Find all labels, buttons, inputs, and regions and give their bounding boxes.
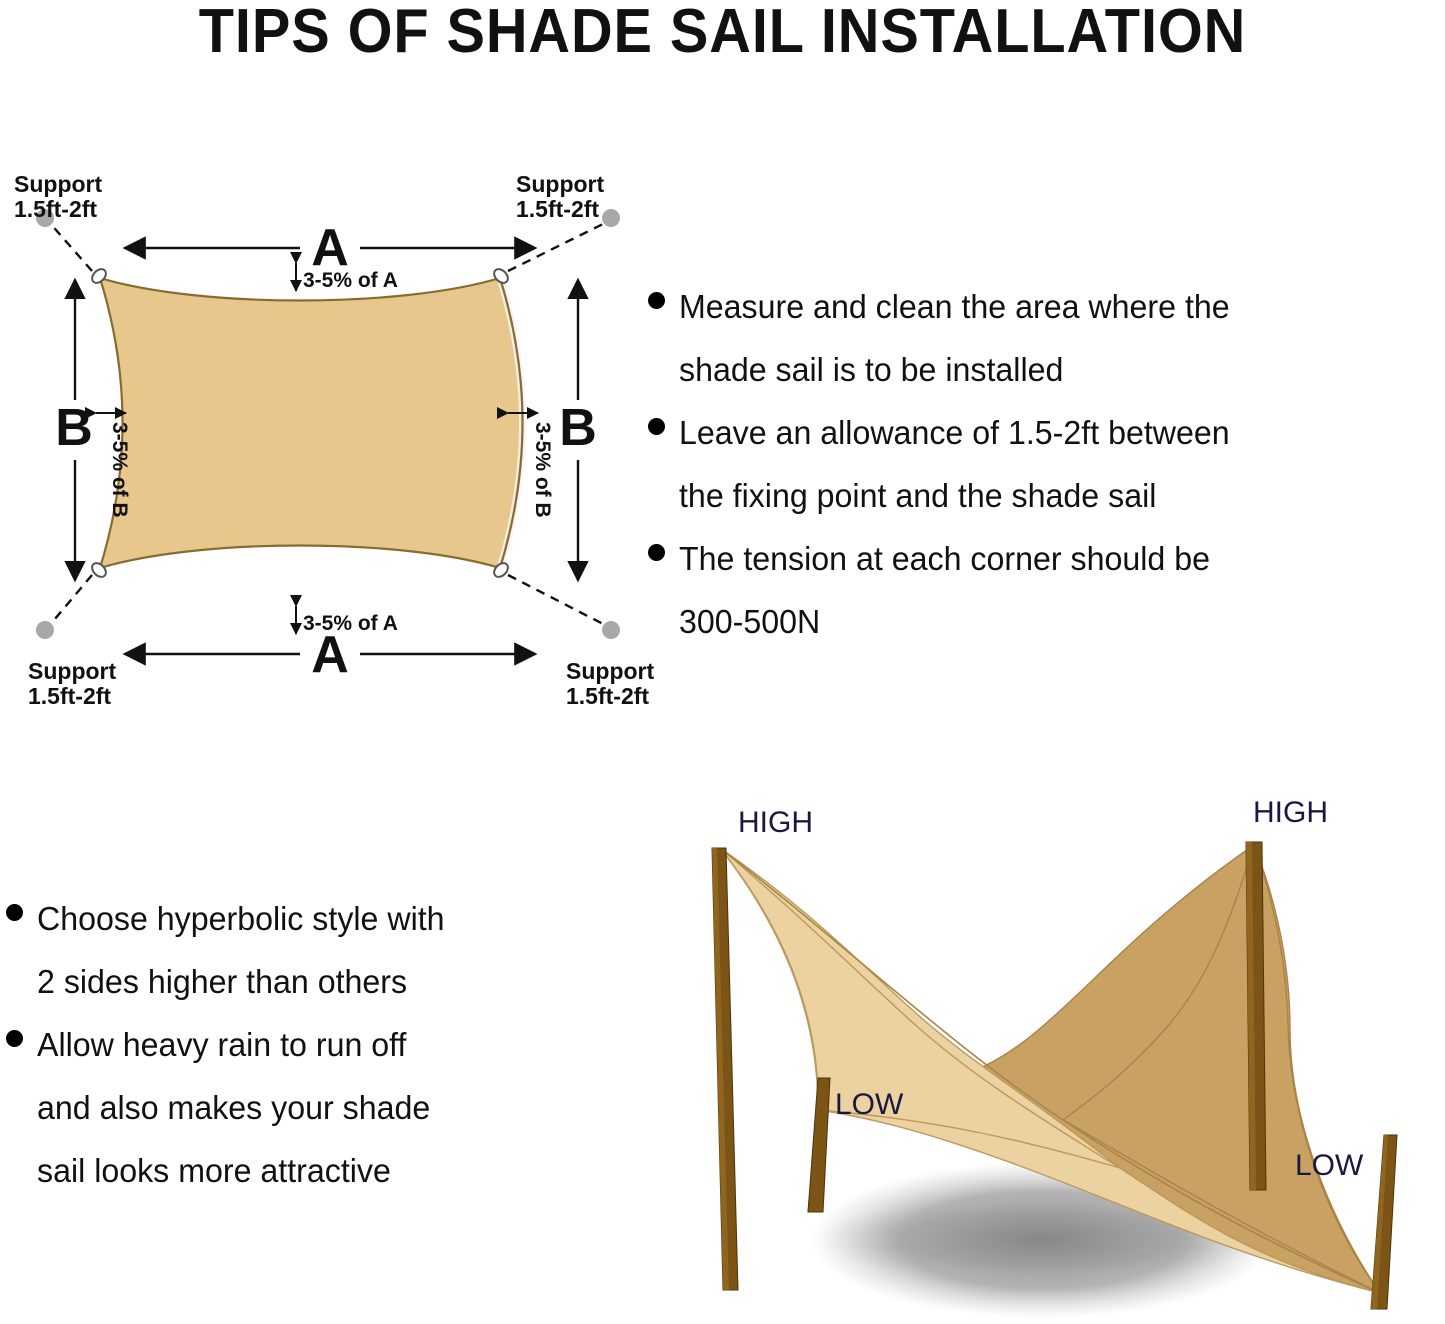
support-label-top-left-line2: 1.5ft-2ft [14, 196, 97, 222]
sag-label-left: 3-5% of B [108, 422, 131, 518]
sag-label-bottom: 3-5% of A [303, 612, 398, 635]
hypar-label-high-right: HIGH [1253, 796, 1328, 829]
support-label-bottom-left-line1: Support [28, 658, 116, 684]
list-item: Allow heavy rain to run off and also mak… [6, 1014, 631, 1203]
list-item: Choose hyperbolic style with 2 sides hig… [6, 888, 631, 1014]
post-low-left-front [808, 1078, 830, 1212]
bullet-dot-icon [6, 904, 23, 921]
hyperbolic-style-list: Choose hyperbolic style with 2 sides hig… [6, 888, 631, 1203]
hypar-label-low-right: LOW [1295, 1149, 1364, 1182]
hypar-label-high-left: HIGH [738, 806, 813, 839]
list-item: The tension at each corner should be 300… [648, 528, 1445, 654]
bullet-dot-icon [648, 544, 665, 561]
list-item: Measure and clean the area where the sha… [648, 276, 1445, 402]
support-label-bottom-right-line1: Support [566, 658, 654, 684]
post-high-left [712, 848, 738, 1290]
sag-label-right: 3-5% of B [531, 422, 554, 518]
tip-text: Leave an allowance of 1.5-2ft between th… [679, 402, 1230, 528]
installation-tips-list: Measure and clean the area where the sha… [648, 276, 1445, 654]
support-label-top-left-line1: Support [14, 171, 102, 197]
sag-label-top: 3-5% of A [303, 269, 398, 292]
bullet-dot-icon [6, 1030, 23, 1047]
tip-text: The tension at each corner should be 300… [679, 528, 1210, 654]
poster-root: TIPS OF SHADE SAIL INSTALLATION [0, 0, 1445, 1319]
post-high-right [1246, 842, 1266, 1190]
rect-sail-diagram: Support 1.5ft-2ft Support 1.5ft-2ft Supp… [0, 160, 660, 740]
style-text: Allow heavy rain to run off and also mak… [37, 1014, 430, 1203]
bullet-dot-icon [648, 418, 665, 435]
support-label-top-right-line1: Support [516, 171, 604, 197]
page-title: TIPS OF SHADE SAIL INSTALLATION [51, 0, 1395, 67]
hypar-sail-diagram: HIGH HIGH LOW LOW [690, 790, 1445, 1319]
sail-fabric [100, 278, 523, 568]
style-text: Choose hyperbolic style with 2 sides hig… [37, 888, 445, 1014]
tip-text: Measure and clean the area where the sha… [679, 276, 1230, 402]
support-label-bottom-right-line2: 1.5ft-2ft [566, 683, 649, 709]
dimension-label-b-left: B [55, 399, 93, 457]
support-label-top-right-line2: 1.5ft-2ft [516, 196, 599, 222]
post-low-right-front [1371, 1135, 1397, 1309]
support-label-bottom-left-line2: 1.5ft-2ft [28, 683, 111, 709]
list-item: Leave an allowance of 1.5-2ft between th… [648, 402, 1445, 528]
dimension-label-b-right: B [559, 399, 597, 457]
hypar-label-low-left: LOW [835, 1088, 904, 1121]
bullet-dot-icon [648, 292, 665, 309]
